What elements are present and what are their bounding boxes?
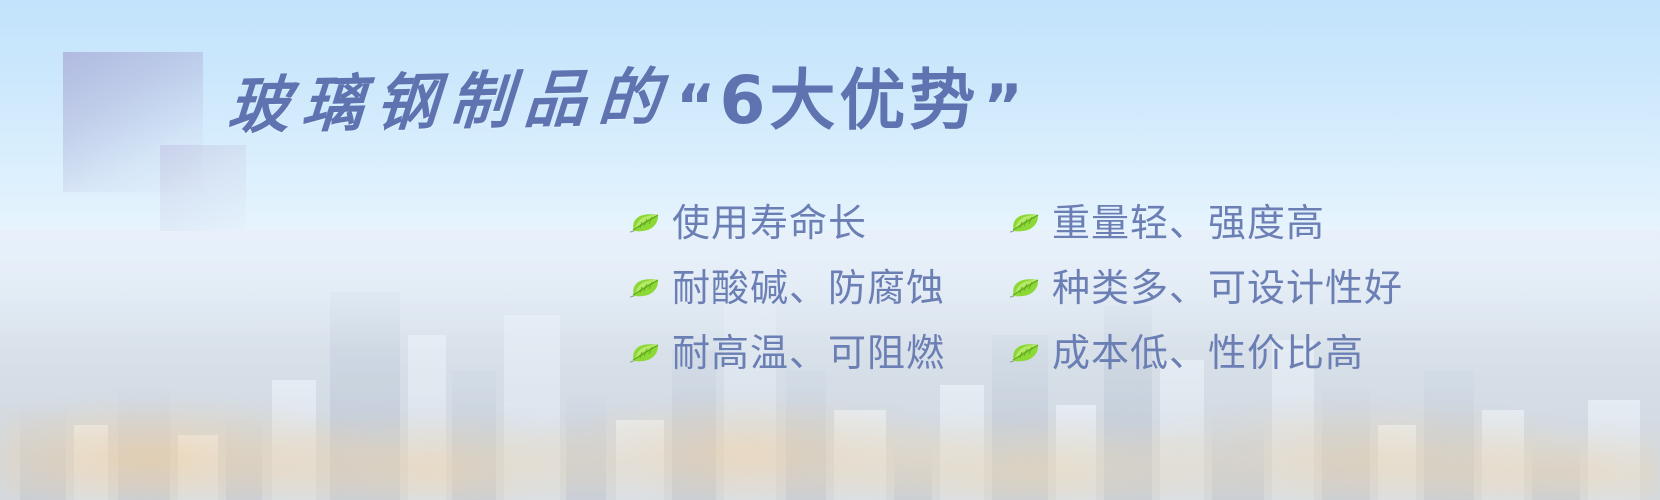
advantages-list-left: 使用寿命长 耐酸碱、防腐蚀 耐高温、可阻燃 bbox=[630, 190, 945, 385]
decor-square-large bbox=[63, 52, 203, 192]
page-title-emphasis: 6大优势 bbox=[719, 68, 979, 134]
list-item-label: 重量轻、强度高 bbox=[1052, 204, 1325, 242]
quote-open-glyph: “ bbox=[676, 77, 715, 137]
list-item-label: 耐酸碱、防腐蚀 bbox=[672, 269, 945, 307]
decor-square-small bbox=[160, 145, 246, 231]
list-item-label: 使用寿命长 bbox=[672, 204, 867, 242]
leaf-icon bbox=[1010, 212, 1040, 234]
page-title: 玻璃钢制品的 “ 6大优势 ” bbox=[228, 68, 1023, 134]
list-item: 重量轻、强度高 bbox=[1010, 190, 1403, 255]
list-item: 耐酸碱、防腐蚀 bbox=[630, 255, 945, 320]
list-item-label: 种类多、可设计性好 bbox=[1052, 269, 1403, 307]
leaf-icon bbox=[630, 212, 660, 234]
leaf-icon bbox=[1010, 342, 1040, 364]
leaf-icon bbox=[1010, 277, 1040, 299]
list-item: 种类多、可设计性好 bbox=[1010, 255, 1403, 320]
quote-close-glyph: ” bbox=[983, 77, 1022, 137]
list-item-label: 耐高温、可阻燃 bbox=[672, 334, 945, 372]
leaf-icon bbox=[630, 342, 660, 364]
leaf-icon bbox=[630, 277, 660, 299]
fiberglass-advantages-banner: 玻璃钢制品的 “ 6大优势 ” 使用寿命长 耐酸碱、防腐蚀 bbox=[0, 0, 1660, 500]
list-item: 使用寿命长 bbox=[630, 190, 945, 255]
page-title-brush-text: 玻璃钢制品的 bbox=[226, 66, 675, 137]
advantages-list-right: 重量轻、强度高 种类多、可设计性好 成本低、性价比高 bbox=[1010, 190, 1403, 385]
list-item: 成本低、性价比高 bbox=[1010, 320, 1403, 385]
list-item: 耐高温、可阻燃 bbox=[630, 320, 945, 385]
list-item-label: 成本低、性价比高 bbox=[1052, 334, 1364, 372]
